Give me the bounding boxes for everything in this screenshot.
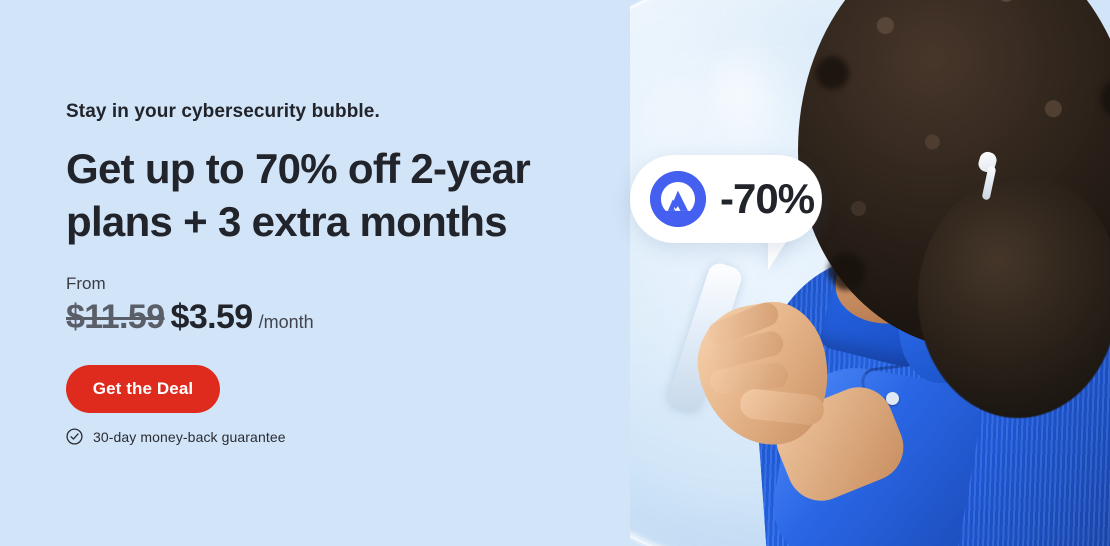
hero-artwork (630, 0, 1110, 546)
from-label: From (66, 274, 106, 294)
promo-copy-column: Stay in your cybersecurity bubble. Get u… (66, 0, 626, 546)
smiling-woman-with-phone-photo (630, 0, 1110, 546)
price-row: $11.59 $3.59 /month (66, 298, 314, 337)
original-price: $11.59 (66, 298, 165, 337)
promo-hero-banner: -70% Stay in your cybersecurity bubble. … (0, 0, 1110, 546)
get-the-deal-button[interactable]: Get the Deal (66, 365, 220, 413)
afro-hair-lower (918, 178, 1110, 418)
promo-eyebrow: Stay in your cybersecurity bubble. (66, 101, 380, 123)
guarantee-label: 30-day money-back guarantee (93, 429, 286, 445)
price-period: /month (259, 312, 314, 333)
promo-headline: Get up to 70% off 2-year plans + 3 extra… (66, 142, 566, 248)
discount-badge: -70% (630, 155, 822, 243)
check-circle-icon (66, 428, 83, 445)
discounted-price: $3.59 (171, 298, 253, 337)
nordvpn-logo-icon (650, 171, 706, 227)
money-back-guarantee: 30-day money-back guarantee (66, 428, 286, 445)
discount-value: -70% (720, 178, 814, 220)
